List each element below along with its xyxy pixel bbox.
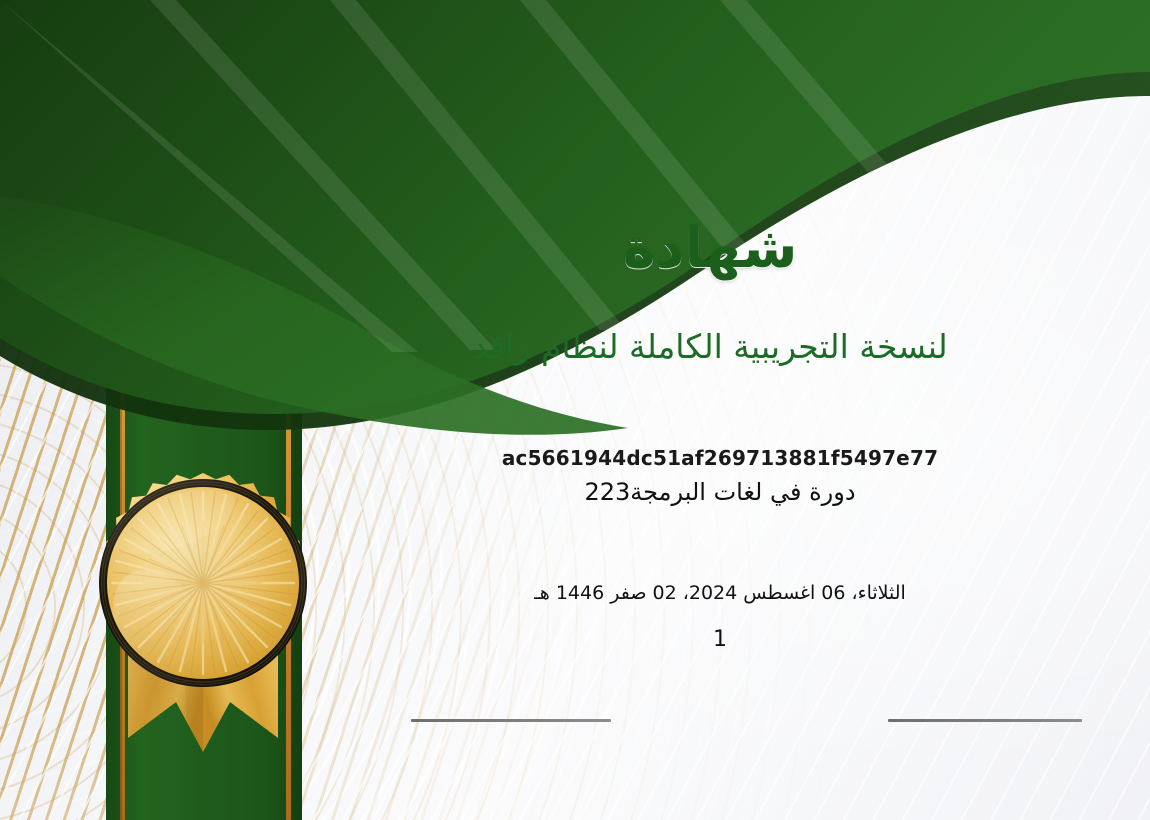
certificate-content: شهادة لنسخة التجريبية الكاملة لنظام رافد… bbox=[0, 0, 1150, 820]
serial-number: 1 bbox=[370, 627, 1070, 652]
certificate-title: شهادة bbox=[330, 216, 1090, 281]
issue-date: الثلاثاء، 06 اغسطس 2024، 02 صفر 1446 هـ bbox=[370, 582, 1070, 604]
course-name: دورة في لغات البرمجة223 bbox=[370, 478, 1070, 506]
certificate-canvas: شهادة لنسخة التجريبية الكاملة لنظام رافد… bbox=[0, 0, 1150, 820]
signature-line-right bbox=[888, 719, 1082, 722]
signature-line-left bbox=[411, 719, 611, 722]
certificate-subtitle: لنسخة التجريبية الكاملة لنظام رافد bbox=[330, 327, 1090, 366]
verification-hash: ac5661944dc51af269713881f5497e77 bbox=[370, 446, 1070, 470]
